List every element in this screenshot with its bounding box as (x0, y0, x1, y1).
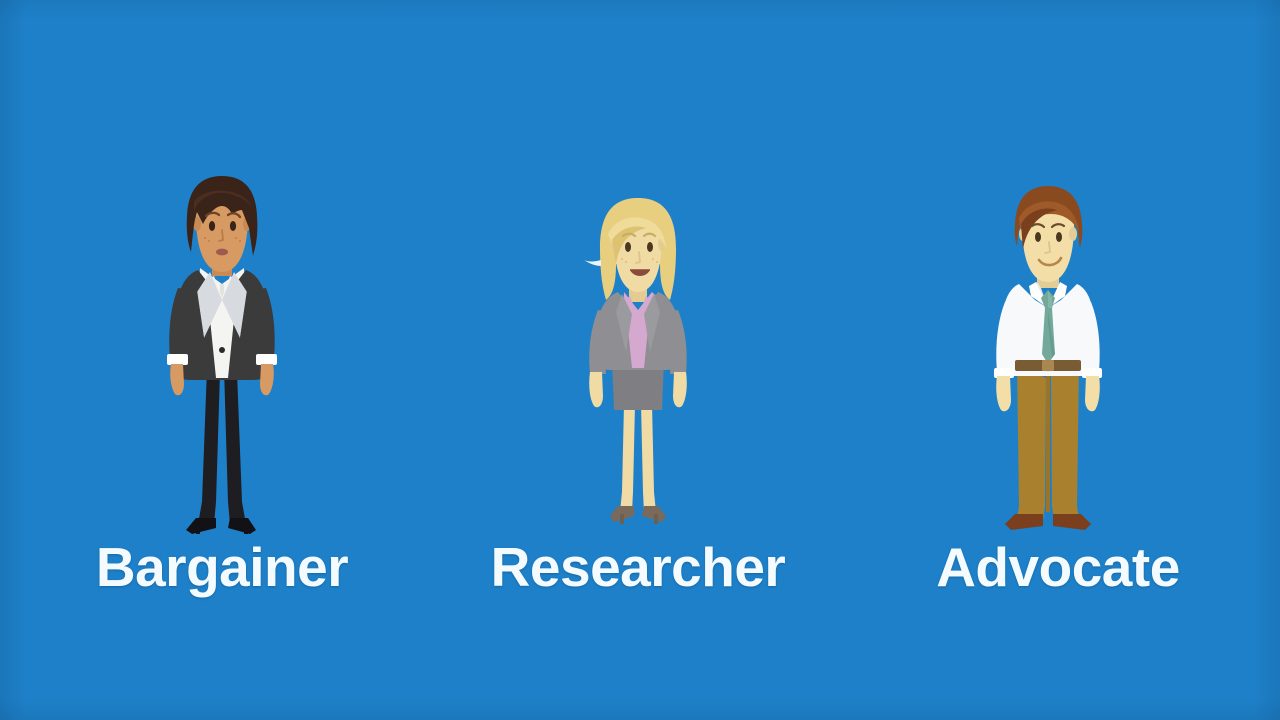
businessman-shirt-tie-figure-icon (973, 182, 1123, 542)
businesswoman-gray-suit-figure-icon (568, 192, 708, 542)
figure-label-advocate: Advocate (838, 536, 1268, 598)
figure-label-researcher: Researcher (428, 536, 848, 598)
businesswoman-dark-suit-figure-icon (152, 172, 292, 542)
figure-label-bargainer: Bargainer (12, 536, 440, 598)
figure-slot-bargainer: Bargainer (12, 0, 432, 720)
slide-canvas: Bargainer (0, 0, 1280, 720)
figure-slot-advocate: Advocate (838, 0, 1258, 720)
figure-slot-researcher: Researcher (428, 0, 848, 720)
